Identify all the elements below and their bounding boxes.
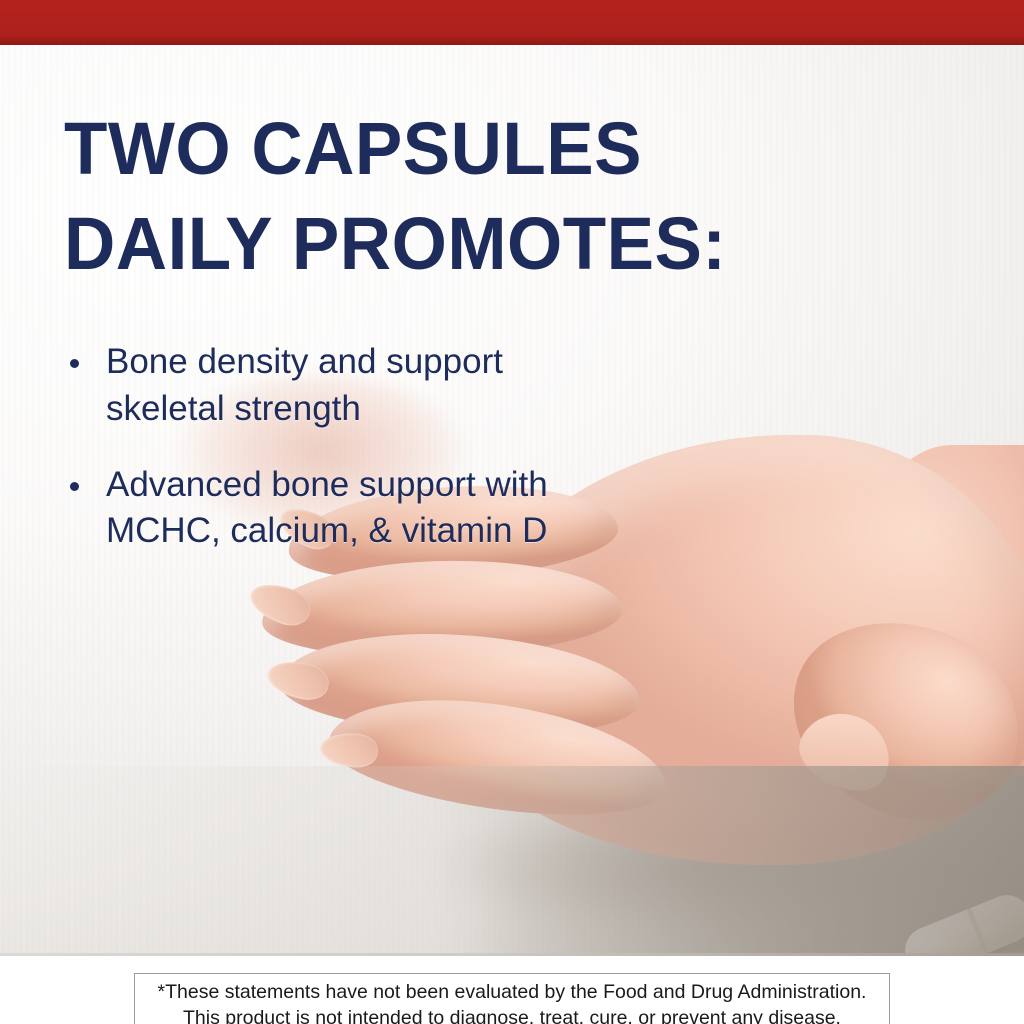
benefits-list: Bone density and support skeletal streng… [64,339,684,554]
supplement-benefits-panel: TWO CAPSULES DAILY PROMOTES: Bone densit… [0,0,1024,1024]
disclaimer-text: *These statements have not been evaluate… [135,974,889,1024]
top-accent-bar [0,0,1024,45]
list-item: Advanced bone support with MCHC, calcium… [64,462,684,554]
disclaimer-area: *These statements have not been evaluate… [0,956,1024,1024]
list-item: Bone density and support skeletal streng… [64,339,684,431]
page-title: TWO CAPSULES DAILY PROMOTES: [64,102,774,291]
fingernail-little [319,731,379,769]
disclaimer-box: *These statements have not been evaluate… [134,973,890,1024]
backdrop-floor-gradient [0,766,1024,956]
benefits-copy-block: TWO CAPSULES DAILY PROMOTES: Bone densit… [64,102,804,584]
